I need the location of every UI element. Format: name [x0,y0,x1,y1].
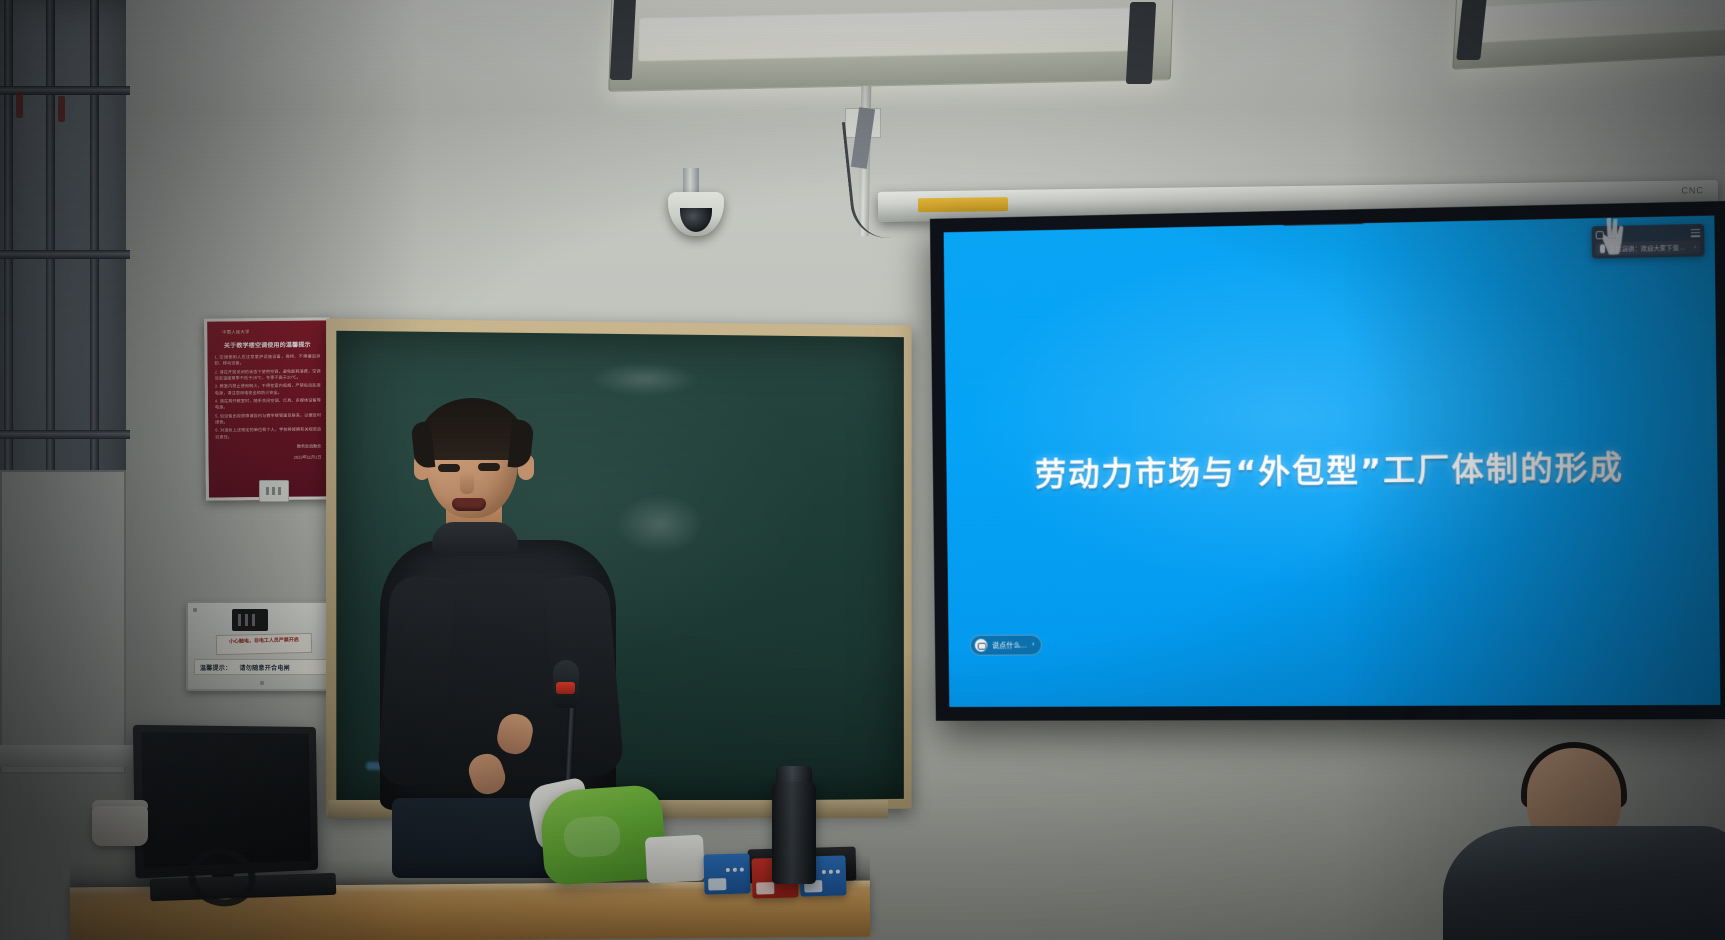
presenter-mouth [452,498,486,511]
panel-notice-strip: 温馨提示： 请勿随意开合电闸 [194,659,332,675]
chat-placeholder-text: 说点什么... [992,640,1027,650]
window-bar-horizontal [0,250,130,259]
chalk-smudge [590,362,700,397]
poster-line: 3. 教室内禁止使用明火，不得在室内吸烟，严禁私拉乱接电源，请注意用电安全和防火… [215,383,321,397]
poster-signature: 教务处后勤处 [215,444,321,452]
window-sill [0,745,144,767]
window-lower-panel [0,470,126,774]
panel-notice-text: 请勿随意开合电闸 [240,663,290,672]
light-tube [1470,0,1725,43]
microphone-icon [1600,244,1605,253]
projector-screen: 腾讯会议 正在演讲：欢迎大家下载十周... › [930,201,1725,721]
presenter-eye [478,463,500,471]
poster-line: 5. 如设备出现故障请及时与教学楼管理员联系，以便及时维修。 [215,412,321,426]
presenter-hair [418,398,526,460]
meeting-chat-bubble[interactable]: 说点什么... ‹ [970,635,1043,656]
tissue-pack [645,835,705,884]
ceiling-fluorescent-light [608,0,1173,92]
light-tube [638,8,1144,61]
screenshot-root: 中国人民大学 关于教学楼空调使用的温馨提示 1. 空调使用人应注意爱护设施设备，… [0,0,1725,940]
meeting-floating-panel[interactable]: 正在演讲：欢迎大家下载十周... › [1592,224,1705,259]
wall-notice-poster: 中国人民大学 关于教学楼空调使用的温馨提示 1. 空调使用人应注意爱护设施设备，… [204,317,332,500]
chalk-box-label [708,878,726,890]
light-fixture-end-cap [1126,2,1156,84]
chalk-box-label [756,882,774,894]
presenter-turtleneck-collar [432,522,518,556]
meeting-panel-tools [1596,230,1617,239]
student-body [1443,826,1725,940]
window-bar-paint-mark [16,92,23,118]
shared-slide[interactable]: 腾讯会议 正在演讲：欢迎大家下载十周... › [944,215,1721,707]
presenter-eye [438,464,460,472]
chalk-box-blue [703,853,750,894]
microphone-indicator [556,682,575,694]
housing-yellow-label [918,197,1008,212]
panel-warning-sticker: 小心触电，非电工人员严禁开启 [216,633,312,655]
poster-university-logo: 中国人民大学 [222,328,320,335]
chalk-box-dots [726,868,744,872]
share-square-icon[interactable] [1596,231,1604,239]
chalk-box-dots [822,870,840,874]
poster-title: 关于教学楼空调使用的温馨提示 [214,339,320,349]
panel-notice-label: 温馨提示： [200,663,232,672]
black-thermos [772,782,816,884]
poster-line: 2. 请在开窗关闭的状态下使用空调，避免能耗浪费，空调设定温度夏季不低于26℃，… [215,368,321,382]
light-fixture-end-cap [610,0,637,80]
housing-brand-mark: CNC [1681,185,1704,195]
user-avatar-icon [975,639,988,652]
bag-highlight [563,815,622,859]
chalk-smudge [615,494,705,554]
participants-list-icon[interactable] [1608,230,1616,238]
chevron-left-icon[interactable]: ‹ [1032,642,1034,649]
window-bar-horizontal [0,430,130,439]
slide-title: 劳动力市场与“外包型”工厂体制的形成 [946,441,1717,496]
panel-socket-icon [232,609,268,631]
panel-screw [193,608,197,612]
poster-line: 4. 请在离开教室时，随手关闭空调、灯具、多媒体设备等电源。 [215,398,321,412]
window-bar-paint-mark [58,96,65,122]
panel-screw [260,681,264,685]
chevron-right-icon[interactable]: › [1694,244,1696,250]
paper-cup [92,806,148,846]
presenter-nose [460,472,474,494]
hamburger-menu-icon[interactable] [1691,228,1700,236]
poster-date: 2023年11月1日 [215,454,321,462]
wall-power-outlet [259,480,289,502]
camera-lens-icon [680,208,712,232]
poster-line: 1. 空调使用人应注意爱护设施设备，保持、不得擅自拆卸、移动设备。 [214,353,320,367]
wall-electrical-panel[interactable]: 小心触电，非电工人员严禁开启 温馨提示： 请勿随意开合电闸 [186,601,342,691]
seated-student [1433,724,1725,940]
meeting-panel-toolbar[interactable] [1596,227,1701,240]
poster-line: 6. 对违反上述规定的单位和个人，学校将按照有关规定追究责任。 [215,427,321,441]
